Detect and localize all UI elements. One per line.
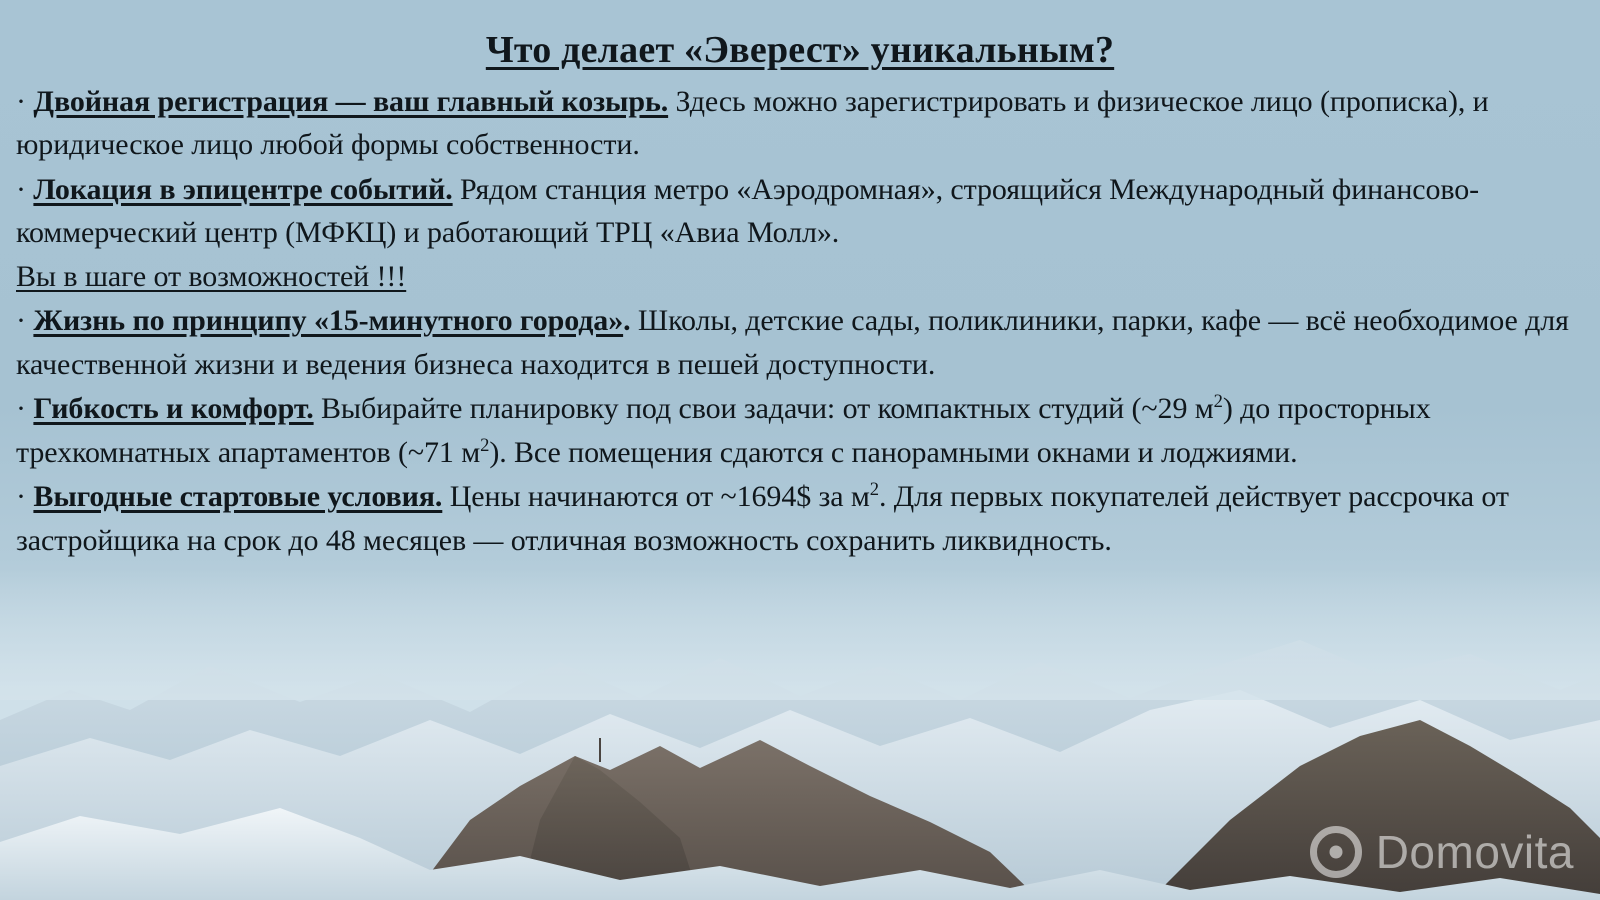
bullet-marker: · bbox=[16, 173, 26, 206]
list-item-lead: Гибкость и комфорт. bbox=[33, 392, 313, 425]
list-item: · Жизнь по принципу «15-минутного города… bbox=[16, 299, 1582, 386]
list-item-body-part3: ). Все помещения сдаются с панорамными о… bbox=[489, 436, 1297, 469]
list-item-body-part1: Выбирайте планировку под свои задачи: от… bbox=[321, 392, 1214, 425]
bullet-marker: · bbox=[16, 480, 26, 513]
watermark-label: Domovita bbox=[1376, 829, 1574, 875]
list-item-lead: Двойная регистрация — ваш главный козырь… bbox=[33, 85, 668, 118]
slide-text-content: Что делает «Эверест» уникальным? · Двойн… bbox=[0, 0, 1600, 563]
atmospheric-haze bbox=[0, 570, 1600, 700]
list-item: · Локация в эпицентре событий. Рядом ста… bbox=[16, 168, 1582, 299]
list-item: · Выгодные стартовые условия. Цены начин… bbox=[16, 475, 1582, 562]
list-item-lead: Локация в эпицентре событий. bbox=[33, 173, 452, 206]
bullet-list: · Двойная регистрация — ваш главный козы… bbox=[0, 72, 1600, 563]
superscript-square: 2 bbox=[870, 479, 879, 500]
list-item-lead: Жизнь по принципу «15-минутного города» bbox=[33, 304, 623, 337]
bullet-marker: · bbox=[16, 392, 26, 425]
page-title-text: Что делает «Эверест» уникальным? bbox=[486, 29, 1114, 71]
list-item-lead-tail: . bbox=[623, 304, 630, 337]
circle-dot-icon bbox=[1310, 826, 1362, 878]
page-title: Что делает «Эверест» уникальным? bbox=[0, 0, 1600, 72]
watermark: Domovita bbox=[1310, 826, 1574, 878]
bullet-marker: · bbox=[16, 304, 26, 337]
superscript-square: 2 bbox=[480, 435, 489, 456]
superscript-square: 2 bbox=[1214, 391, 1223, 412]
list-item: · Двойная регистрация — ваш главный козы… bbox=[16, 80, 1582, 167]
list-item-body-part1: Цены начинаются от ~1694$ за м bbox=[450, 480, 870, 513]
slide-canvas: Domovita Что делает «Эверест» уникальным… bbox=[0, 0, 1600, 900]
bullet-marker: · bbox=[16, 85, 26, 118]
list-item: · Гибкость и комфорт. Выбирайте планиров… bbox=[16, 387, 1582, 474]
list-item-emphasis: Вы в шаге от возможностей !!! bbox=[16, 260, 406, 293]
list-item-lead: Выгодные стартовые условия. bbox=[33, 480, 442, 513]
